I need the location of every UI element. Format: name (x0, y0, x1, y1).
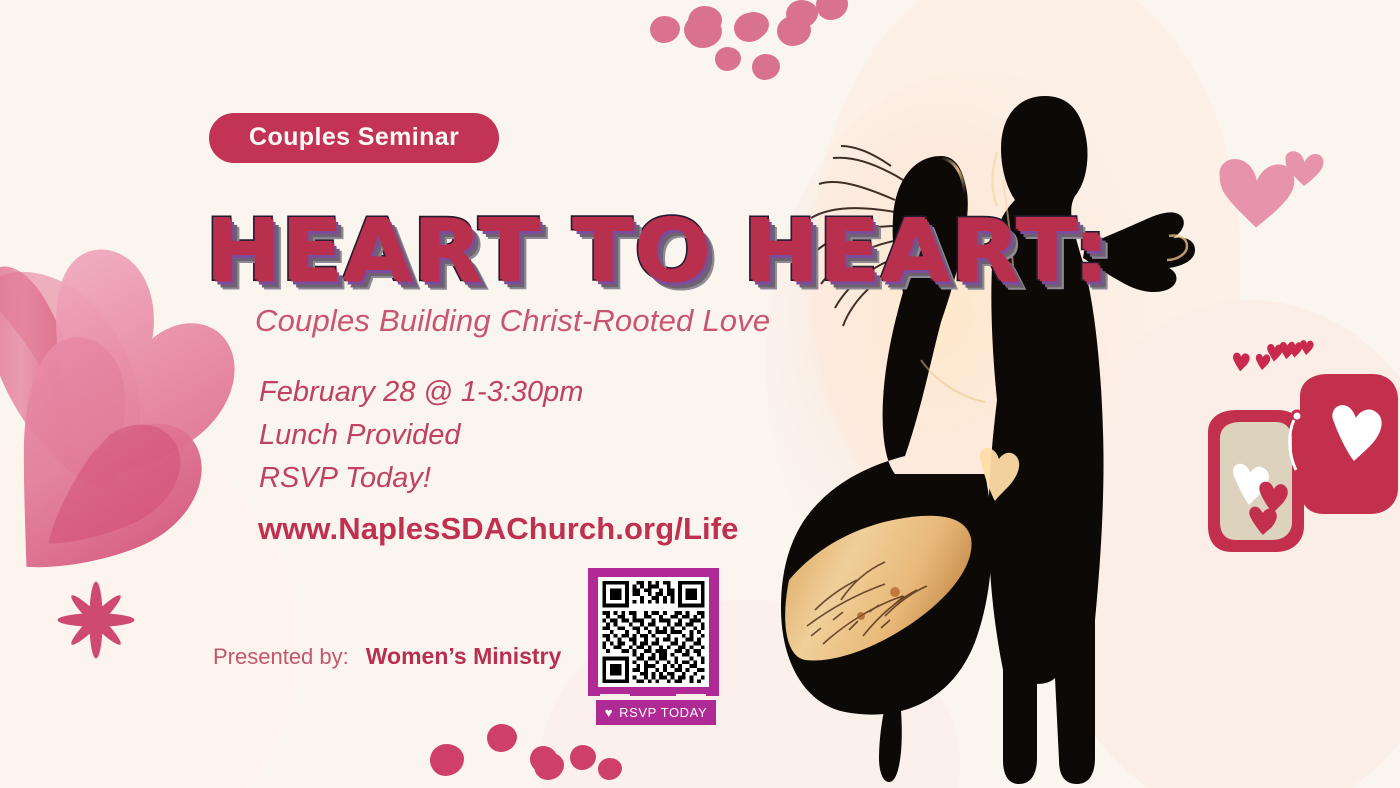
event-details: February 28 @ 1-3:30pm Lunch Provided RS… (259, 371, 583, 500)
confetti-dot (816, 0, 848, 20)
event-date-time: February 28 @ 1-3:30pm (259, 371, 583, 414)
event-lunch-note: Lunch Provided (259, 414, 583, 457)
heart-icon: ♥ (605, 706, 613, 719)
registration-url[interactable]: www.NaplesSDAChurch.org/Life (258, 511, 738, 547)
confetti-dot (430, 744, 464, 776)
qr-code-image[interactable] (598, 577, 709, 687)
presented-by-label: Presented by: (213, 644, 349, 670)
sparkle-asterisk-icon (48, 572, 144, 668)
couple-silhouette-photo (745, 60, 1265, 788)
confetti-dot (598, 758, 622, 780)
couples-seminar-badge: Couples Seminar (209, 113, 499, 163)
drawn-heart-small-icon (1282, 148, 1326, 188)
qr-rsvp-label: RSVP TODAY (619, 705, 707, 720)
qr-code-card[interactable] (588, 568, 719, 696)
confetti-dot (650, 16, 680, 43)
presented-by-organization: Women’s Ministry (366, 643, 562, 670)
presented-by: Presented by: Women’s Ministry (213, 643, 561, 670)
confetti-dot (715, 47, 741, 71)
page-title: HEART TO HEART: (205, 207, 1109, 293)
confetti-dot (777, 16, 811, 46)
subtitle: Couples Building Christ-Rooted Love (255, 303, 770, 339)
confetti-dot (534, 752, 564, 780)
confetti-dot (734, 14, 766, 42)
poster-canvas: Couples Seminar HEART TO HEART: Couples … (0, 0, 1400, 788)
qr-rsvp-tab[interactable]: ♥ RSVP TODAY (596, 700, 716, 725)
confetti-dot (487, 724, 517, 752)
confetti-dot (570, 745, 596, 770)
event-rsvp-note: RSVP Today! (259, 457, 583, 500)
confetti-dot (684, 15, 718, 45)
